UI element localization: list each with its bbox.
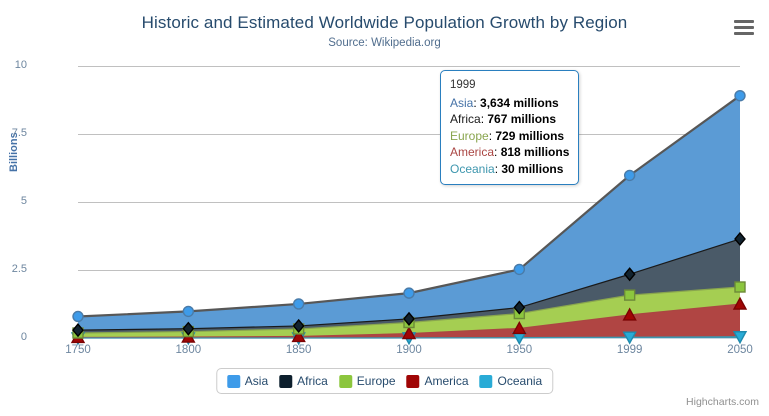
hamburger-menu-icon[interactable]	[731, 16, 757, 38]
tooltip-row-asia: Asia: 3,634 millions	[450, 95, 569, 112]
chart-subtitle: Source: Wikipedia.org	[0, 37, 769, 49]
gridline	[78, 134, 740, 135]
tooltip-separator: :	[494, 145, 501, 159]
hamburger-bar	[734, 32, 754, 35]
legend-swatch-icon	[279, 375, 292, 388]
legend-item-label: America	[425, 374, 469, 388]
legend-item-label: Europe	[357, 374, 396, 388]
y-axis-tick-label: 5	[0, 195, 27, 207]
tooltip-series-name: America	[450, 145, 494, 159]
legend-item-asia[interactable]: Asia	[227, 374, 268, 388]
tooltip-series-value: 818 millions	[501, 145, 570, 159]
x-axis-tick-label: 1750	[48, 344, 108, 356]
legend: AsiaAfricaEuropeAmericaOceania	[216, 368, 553, 394]
legend-item-oceania[interactable]: Oceania	[480, 374, 543, 388]
tooltip-row-america: America: 818 millions	[450, 144, 569, 161]
tooltip-series-name: Europe	[450, 129, 489, 143]
x-axis-tick-label: 1850	[269, 344, 329, 356]
tooltip-row-oceania: Oceania: 30 millions	[450, 161, 569, 178]
legend-swatch-icon	[227, 375, 240, 388]
legend-swatch-icon	[407, 375, 420, 388]
tooltip-series-value: 30 millions	[501, 162, 563, 176]
legend-swatch-icon	[339, 375, 352, 388]
tooltip-row-africa: Africa: 767 millions	[450, 111, 569, 128]
y-axis-tick-label: 7.5	[0, 127, 27, 139]
y-axis-tick-label: 2.5	[0, 263, 27, 275]
gridline	[78, 202, 740, 203]
x-axis-tick-label: 2050	[710, 344, 769, 356]
highcharts-container: Historic and Estimated Worldwide Populat…	[0, 0, 769, 416]
y-axis-tick-label: 0	[0, 331, 27, 343]
tooltip-series-value: 729 millions	[495, 129, 564, 143]
y-axis-tick-label: 10	[0, 59, 27, 71]
tooltip-rows: Asia: 3,634 millionsAfrica: 767 millions…	[450, 95, 569, 178]
tooltip-series-value: 3,634 millions	[480, 96, 559, 110]
tooltip-series-name: Oceania	[450, 162, 495, 176]
tooltip: 1999 Asia: 3,634 millionsAfrica: 767 mil…	[440, 70, 579, 185]
tooltip-header: 1999	[450, 77, 569, 95]
x-axis-tick-label: 1999	[600, 344, 660, 356]
hamburger-bar	[734, 20, 754, 23]
legend-item-america[interactable]: America	[407, 374, 469, 388]
tooltip-series-value: 767 millions	[487, 112, 556, 126]
legend-item-label: Africa	[297, 374, 328, 388]
legend-item-europe[interactable]: Europe	[339, 374, 396, 388]
y-axis-zero-line	[78, 338, 740, 339]
credits-label[interactable]: Highcharts.com	[686, 396, 759, 408]
hamburger-bar	[734, 26, 754, 29]
legend-swatch-icon	[480, 375, 493, 388]
x-axis-tick-label: 1800	[158, 344, 218, 356]
x-axis-tick-label: 1950	[489, 344, 549, 356]
x-axis-tick-label: 1900	[379, 344, 439, 356]
tooltip-series-name: Asia	[450, 96, 473, 110]
chart-title: Historic and Estimated Worldwide Populat…	[0, 13, 769, 33]
gridline	[78, 66, 740, 67]
plot-area	[78, 66, 740, 338]
tooltip-series-name: Africa	[450, 112, 481, 126]
legend-item-label: Asia	[245, 374, 268, 388]
tooltip-row-europe: Europe: 729 millions	[450, 128, 569, 145]
legend-item-africa[interactable]: Africa	[279, 374, 328, 388]
legend-item-label: Oceania	[498, 374, 543, 388]
gridline	[78, 270, 740, 271]
tooltip-separator: :	[473, 96, 480, 110]
